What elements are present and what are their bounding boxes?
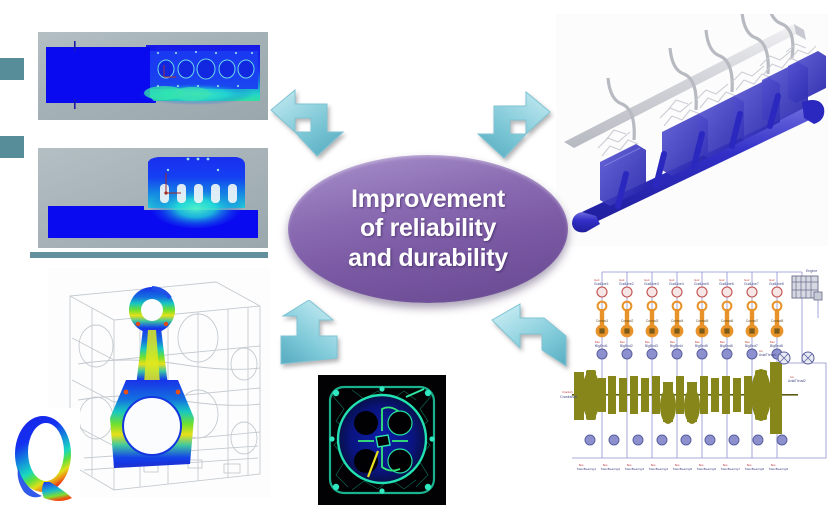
- svg-text:Gud: Gud: [694, 278, 700, 282]
- svg-text:MainBearing6: MainBearing6: [697, 467, 716, 471]
- svg-text:GudLine8: GudLine8: [769, 282, 784, 286]
- svg-text:GudLine4: GudLine4: [669, 282, 684, 286]
- svg-text:Crankshaft: Crankshaft: [560, 395, 577, 399]
- svg-text:Gud: Gud: [769, 278, 775, 282]
- svg-text:BigEnd6: BigEnd6: [720, 344, 733, 348]
- svg-text:Gud: Gud: [719, 278, 725, 282]
- piston-ring-deformation-plot: [10, 408, 80, 506]
- svg-text:Bea: Bea: [699, 464, 704, 467]
- cylinder-head-face-fea: [318, 375, 446, 505]
- connecting-rod-stress-fea: [48, 268, 270, 498]
- svg-text:BigEnd8: BigEnd8: [770, 344, 783, 348]
- svg-text:BigEnd5: BigEnd5: [695, 344, 708, 348]
- svg-text:Axi: Axi: [759, 349, 763, 353]
- svg-text:MainBearing8: MainBearing8: [745, 467, 764, 471]
- svg-text:BigEnd2: BigEnd2: [620, 344, 633, 348]
- svg-text:GudLine5: GudLine5: [694, 282, 709, 286]
- decor-teal-bar: [30, 252, 268, 258]
- arrow-from-conrod-fea: [275, 300, 361, 370]
- svg-text:Bea: Bea: [695, 340, 700, 344]
- decor-teal-chip-left-lower: [0, 136, 24, 158]
- svg-text:MainBearing5: MainBearing5: [673, 467, 692, 471]
- svg-text:Gud: Gud: [744, 278, 750, 282]
- svg-text:Gud: Gud: [669, 278, 675, 282]
- svg-text:Conrod3: Conrod3: [646, 319, 658, 323]
- svg-text:Conrod2: Conrod2: [621, 319, 633, 323]
- svg-text:Bea: Bea: [720, 340, 725, 344]
- svg-text:Engine: Engine: [806, 269, 817, 273]
- arrow-from-block-thermal: [265, 88, 351, 160]
- svg-text:GudLine6: GudLine6: [719, 282, 734, 286]
- svg-text:Gud: Gud: [619, 278, 625, 282]
- svg-text:MainBearing7: MainBearing7: [721, 467, 740, 471]
- engine-block-top-section-fea: [38, 32, 268, 120]
- svg-text:Conrod4: Conrod4: [671, 319, 683, 323]
- svg-text:AxialThrust2: AxialThrust2: [788, 379, 806, 383]
- svg-text:Conrod6: Conrod6: [721, 319, 733, 323]
- svg-text:Conrod1: Conrod1: [596, 319, 608, 323]
- svg-text:Bea: Bea: [723, 464, 728, 467]
- central-goal-ellipse[interactable]: Improvement of reliability and durabilit…: [288, 155, 568, 303]
- arrow-from-mbd-schematic: [486, 300, 578, 374]
- arrow-from-cooling-circuit: [476, 88, 558, 160]
- fea-contour-body: [46, 39, 260, 113]
- svg-text:GudLine1: GudLine1: [594, 282, 609, 286]
- svg-text:Bea: Bea: [579, 464, 584, 467]
- svg-text:GudLine2: GudLine2: [619, 282, 634, 286]
- svg-text:BigEnd1: BigEnd1: [595, 344, 608, 348]
- svg-text:MainBearing2: MainBearing2: [601, 467, 620, 471]
- svg-text:Bea: Bea: [651, 464, 656, 467]
- svg-text:MainBearing1: MainBearing1: [577, 467, 596, 471]
- svg-text:Conrod5: Conrod5: [696, 319, 708, 323]
- svg-text:Conrod8: Conrod8: [771, 319, 783, 323]
- svg-text:Bea: Bea: [627, 464, 632, 467]
- svg-text:BigEnd3: BigEnd3: [645, 344, 658, 348]
- central-goal-label: Improvement of reliability and durabilit…: [348, 185, 508, 274]
- svg-text:GudLine3: GudLine3: [644, 282, 659, 286]
- engine-block-side-section-fea: [38, 148, 268, 248]
- svg-text:MainBearing9: MainBearing9: [769, 467, 788, 471]
- svg-text:MainBearing3: MainBearing3: [625, 467, 644, 471]
- svg-text:Bea: Bea: [620, 340, 625, 344]
- svg-text:Axi: Axi: [790, 375, 794, 379]
- svg-text:Bea: Bea: [770, 340, 775, 344]
- svg-text:Bea: Bea: [670, 340, 675, 344]
- cooling-circuit-3d-model: [556, 14, 828, 246]
- svg-text:Bea: Bea: [747, 464, 752, 467]
- svg-text:AxialThrust1: AxialThrust1: [759, 353, 777, 357]
- svg-text:Bea: Bea: [645, 340, 650, 344]
- svg-text:Gud: Gud: [594, 278, 600, 282]
- svg-text:Gud: Gud: [644, 278, 650, 282]
- svg-text:GudLine7: GudLine7: [744, 282, 759, 286]
- svg-text:Bea: Bea: [603, 464, 608, 467]
- svg-text:BigEnd4: BigEnd4: [670, 344, 683, 348]
- decor-teal-chip-left-upper: [0, 58, 24, 80]
- svg-text:Bea: Bea: [595, 340, 600, 344]
- svg-text:Bea: Bea: [745, 340, 750, 344]
- svg-text:Cranksh: Cranksh: [562, 390, 573, 394]
- slide-canvas: GudLine1GudLine2 GudLine3GudLine4 GudLin…: [0, 0, 838, 530]
- crankshaft-mbd-schematic: GudLine1GudLine2 GudLine3GudLine4 GudLin…: [556, 258, 832, 480]
- svg-text:Conrod7: Conrod7: [746, 319, 758, 323]
- svg-text:MainBearing4: MainBearing4: [649, 467, 668, 471]
- svg-text:Bea: Bea: [675, 464, 680, 467]
- svg-text:BigEnd7: BigEnd7: [745, 344, 758, 348]
- svg-text:Bea: Bea: [771, 464, 776, 467]
